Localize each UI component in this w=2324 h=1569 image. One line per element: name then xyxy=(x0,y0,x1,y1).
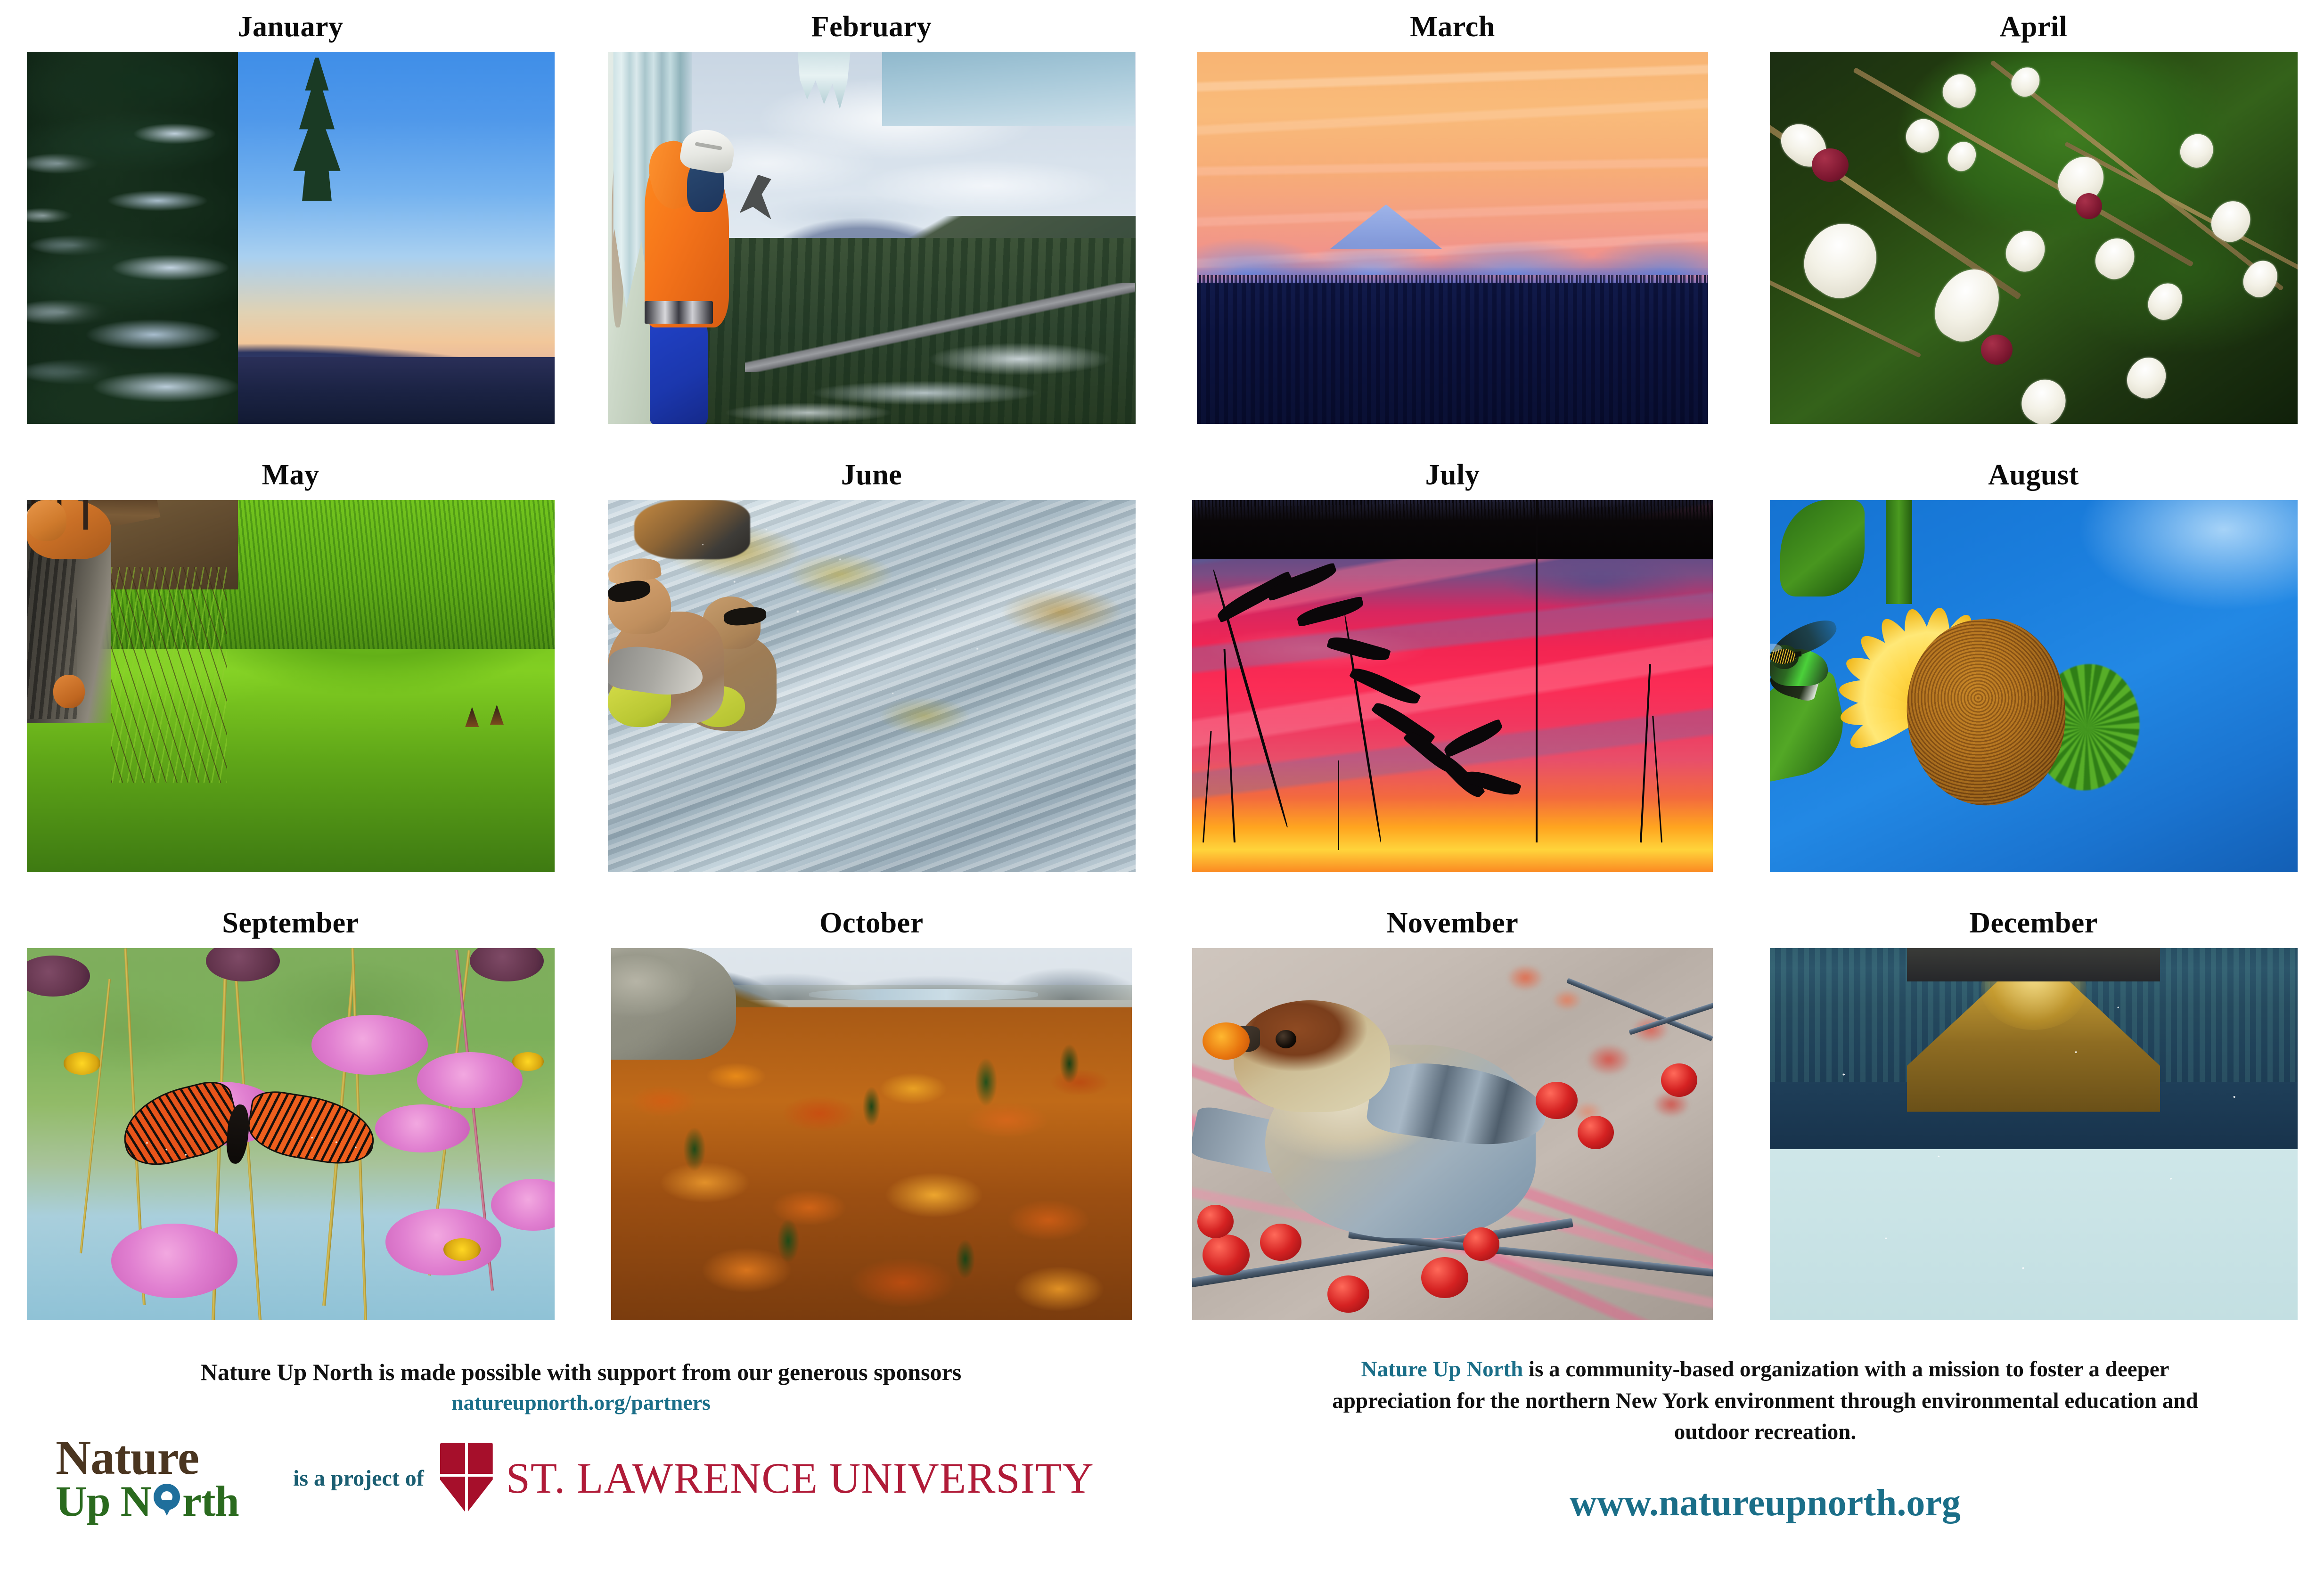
august-bee xyxy=(1770,649,1796,664)
november-crabapple xyxy=(1421,1257,1468,1298)
june-water-splash xyxy=(608,500,1136,872)
month-grid: January February xyxy=(0,0,2324,1345)
september-flower-center xyxy=(512,1052,544,1071)
month-cell-november[interactable]: November xyxy=(1162,896,1743,1344)
november-crabapple xyxy=(1197,1205,1234,1238)
july-grass-stalk xyxy=(1536,500,1538,842)
december-falling-snow xyxy=(1770,948,2298,1320)
map-pin-icon xyxy=(152,1482,181,1516)
logo-word-nature: Nature xyxy=(56,1435,277,1481)
november-crabapple xyxy=(1536,1082,1577,1119)
st-lawrence-university-logo[interactable]: ST. LAWRENCE UNIVERSITY xyxy=(440,1443,1094,1513)
july-dark-ground xyxy=(1192,500,1713,559)
november-crabapple xyxy=(1661,1063,1697,1097)
month-cell-january[interactable]: January xyxy=(0,0,581,448)
february-climber-legs xyxy=(650,312,708,424)
month-label-january: January xyxy=(238,12,344,41)
shield-icon xyxy=(440,1443,493,1513)
month-cell-august[interactable]: August xyxy=(1743,448,2324,896)
month-cell-october[interactable]: October xyxy=(581,896,1162,1344)
november-bird-head xyxy=(1234,1000,1390,1112)
month-label-march: March xyxy=(1410,12,1495,41)
october-distant-lake xyxy=(809,989,1038,1000)
month-label-october: October xyxy=(819,908,923,938)
month-label-august: August xyxy=(1988,460,2079,490)
month-photo-march[interactable] xyxy=(1197,52,1708,424)
brand-row: Nature Up N rth is a project of xyxy=(56,1435,1094,1521)
month-cell-june[interactable]: June xyxy=(581,448,1162,896)
month-label-november: November xyxy=(1387,908,1518,938)
month-photo-april[interactable] xyxy=(1770,52,2298,424)
month-photo-june[interactable] xyxy=(608,500,1136,872)
may-shrub xyxy=(111,567,227,783)
month-photo-january[interactable] xyxy=(27,52,555,424)
month-cell-july[interactable]: July xyxy=(1162,448,1743,896)
month-label-december: December xyxy=(1969,908,2098,938)
month-cell-march[interactable]: March xyxy=(1162,0,1743,448)
month-photo-december[interactable] xyxy=(1770,948,2298,1320)
university-name: ST. LAWRENCE UNIVERSITY xyxy=(506,1453,1094,1503)
main-website-link[interactable]: www.natureupnorth.org xyxy=(1365,1482,2166,1525)
march-dark-forest xyxy=(1197,283,1708,424)
september-flower-center xyxy=(443,1238,480,1260)
september-flower-center xyxy=(64,1052,100,1074)
shield-horizontal-bar xyxy=(440,1474,493,1477)
month-cell-april[interactable]: April xyxy=(1743,0,2324,448)
may-fox-head xyxy=(27,500,66,541)
month-photo-november[interactable] xyxy=(1192,948,1713,1320)
month-label-may: May xyxy=(262,460,319,490)
november-crabapple xyxy=(1578,1116,1614,1149)
month-cell-february[interactable]: February xyxy=(581,0,1162,448)
july-grass-stalk xyxy=(1338,760,1339,850)
month-photo-october[interactable] xyxy=(611,948,1132,1320)
mission-statement: Nature Up North is a community-based org… xyxy=(1317,1354,2213,1448)
footer-left-column: Nature Up North is made possible with su… xyxy=(0,1345,1162,1569)
november-crabapple xyxy=(1203,1234,1249,1275)
nature-up-north-logo[interactable]: Nature Up N rth xyxy=(56,1435,277,1521)
calendar-poster: January February xyxy=(0,0,2324,1569)
month-photo-may[interactable] xyxy=(27,500,555,872)
sponsor-partners-link[interactable]: natureupnorth.org/partners xyxy=(0,1390,1162,1415)
month-photo-september[interactable] xyxy=(27,948,555,1320)
september-butterfly-spots xyxy=(132,1127,375,1164)
sponsor-statement: Nature Up North is made possible with su… xyxy=(0,1358,1162,1386)
map-pin-hole xyxy=(161,1491,172,1503)
month-label-february: February xyxy=(811,12,932,41)
april-bud xyxy=(1981,335,2013,364)
footer-right-column: Nature Up North is a community-based org… xyxy=(1162,1345,2324,1569)
september-cosmos-flower xyxy=(375,1104,470,1153)
november-crabapple xyxy=(1463,1227,1499,1261)
month-photo-july[interactable] xyxy=(1192,500,1713,872)
february-climber-harness xyxy=(645,301,713,323)
october-rock-ledge xyxy=(611,948,736,1060)
month-label-april: April xyxy=(2000,12,2068,41)
month-photo-august[interactable] xyxy=(1770,500,2298,872)
february-road xyxy=(745,283,1136,372)
logo-word-up-north: Up N rth xyxy=(56,1481,277,1521)
month-cell-september[interactable]: September xyxy=(0,896,581,1344)
month-cell-december[interactable]: December xyxy=(1743,896,2324,1344)
october-conifers xyxy=(611,1015,1132,1320)
november-crabapple xyxy=(1260,1224,1301,1261)
september-cosmos-flower xyxy=(385,1209,501,1275)
september-cosmos-flower xyxy=(417,1052,523,1108)
month-cell-may[interactable]: May xyxy=(0,448,581,896)
november-berry-in-beak xyxy=(1203,1022,1249,1060)
february-frozen-river xyxy=(882,52,1136,126)
project-of-text: is a project of xyxy=(293,1465,424,1491)
logo-rth: rth xyxy=(182,1481,239,1521)
month-photo-february[interactable] xyxy=(608,52,1136,424)
november-bird-eye xyxy=(1276,1030,1296,1049)
mission-brand-name: Nature Up North xyxy=(1361,1357,1523,1381)
september-cosmos-flower xyxy=(311,1015,427,1074)
month-label-june: June xyxy=(841,460,902,490)
shield-vertical-bar xyxy=(465,1443,468,1513)
november-crabapple xyxy=(1327,1275,1369,1313)
poster-footer: Nature Up North is made possible with su… xyxy=(0,1345,2324,1569)
month-label-july: July xyxy=(1425,460,1480,490)
january-right-snow xyxy=(27,52,238,424)
logo-up-n: Up N xyxy=(56,1481,151,1521)
september-cosmos-flower xyxy=(111,1224,238,1298)
month-label-september: September xyxy=(222,908,359,938)
may-fox-kit xyxy=(53,675,85,708)
